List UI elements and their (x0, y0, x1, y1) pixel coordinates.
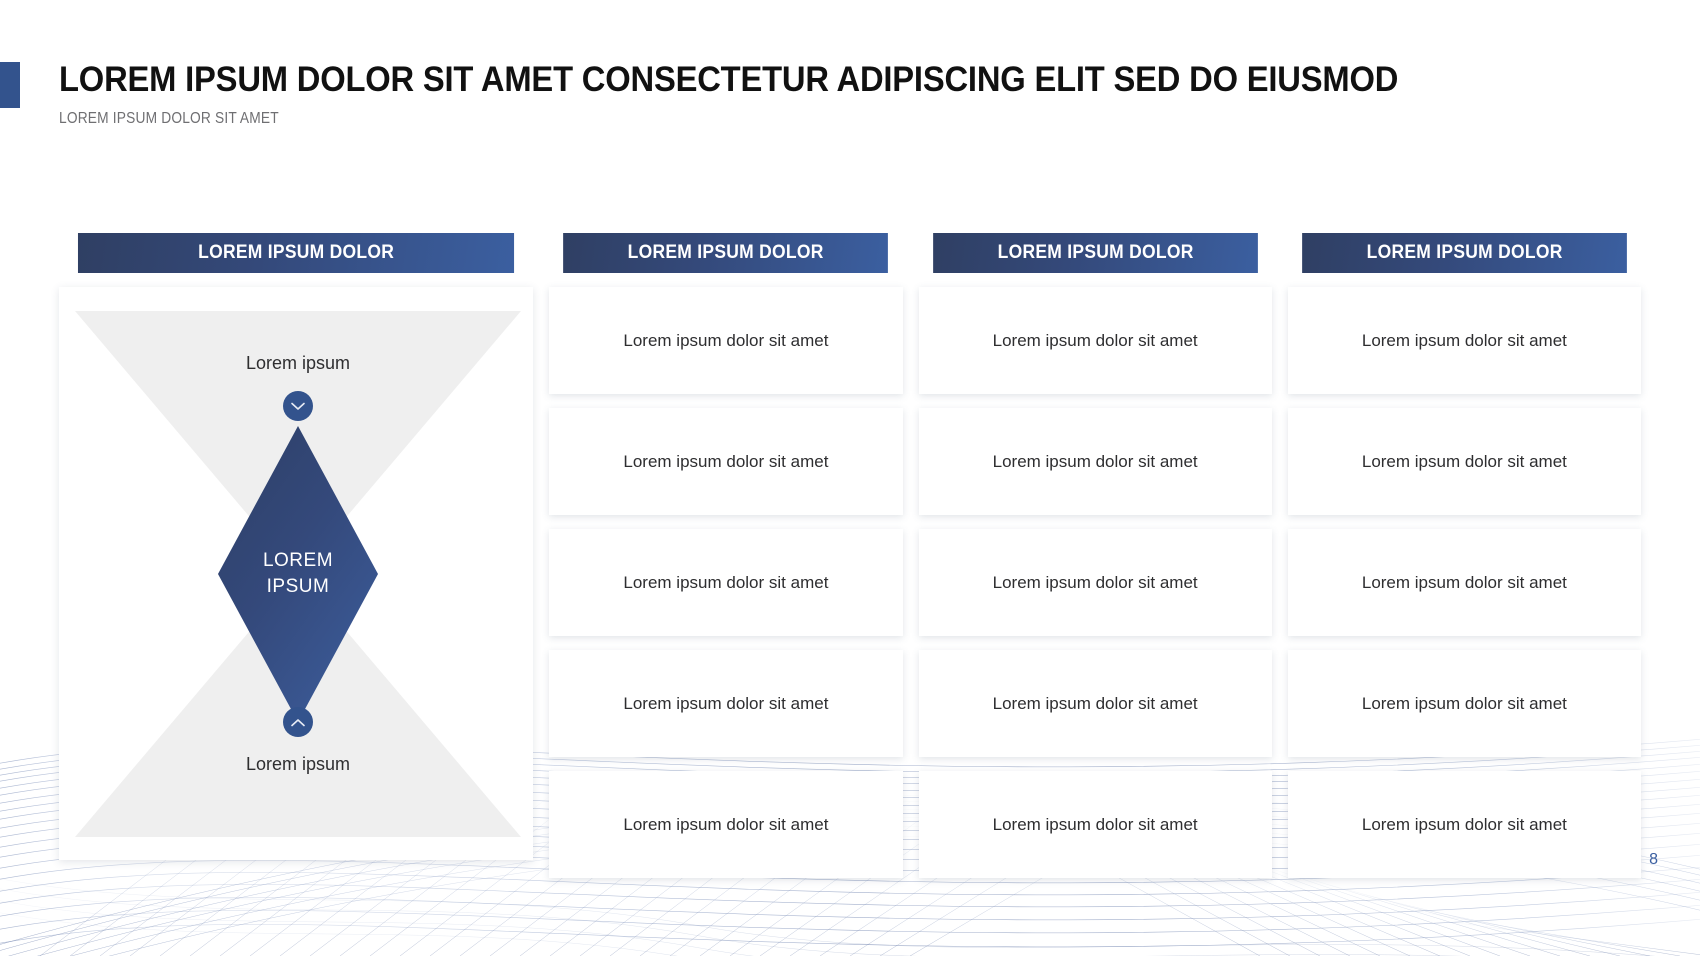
column-cards-2: LOREM IPSUM DOLOR Lorem ipsum dolor sit … (549, 233, 902, 878)
column-funnel: LOREM IPSUM DOLOR LOREM IPSUM Lorem ipsu… (59, 233, 533, 878)
page-number: 8 (1649, 851, 1658, 869)
list-item[interactable]: Lorem ipsum dolor sit amet (549, 771, 902, 878)
page-title: LOREM IPSUM DOLOR SIT AMET CONSECTETUR A… (59, 58, 1398, 102)
list-item[interactable]: Lorem ipsum dolor sit amet (1288, 408, 1641, 515)
card-text: Lorem ipsum dolor sit amet (623, 331, 828, 351)
funnel-bottom-label: Lorem ipsum (75, 754, 521, 775)
list-item[interactable]: Lorem ipsum dolor sit amet (1288, 529, 1641, 636)
column-header-4: LOREM IPSUM DOLOR (1302, 233, 1627, 273)
list-item[interactable]: Lorem ipsum dolor sit amet (1288, 650, 1641, 757)
center-diamond-label: LOREM IPSUM (263, 548, 333, 600)
card-text: Lorem ipsum dolor sit amet (1362, 573, 1567, 593)
list-item[interactable]: Lorem ipsum dolor sit amet (1288, 287, 1641, 394)
content-grid: LOREM IPSUM DOLOR LOREM IPSUM Lorem ipsu… (59, 233, 1641, 878)
list-item[interactable]: Lorem ipsum dolor sit amet (549, 529, 902, 636)
title-accent-bar (0, 62, 20, 108)
column-cards-4: LOREM IPSUM DOLOR Lorem ipsum dolor sit … (1288, 233, 1641, 878)
list-item[interactable]: Lorem ipsum dolor sit amet (919, 650, 1272, 757)
card-text: Lorem ipsum dolor sit amet (1362, 452, 1567, 472)
card-text: Lorem ipsum dolor sit amet (993, 694, 1198, 714)
card-text: Lorem ipsum dolor sit amet (993, 573, 1198, 593)
column-header-2: LOREM IPSUM DOLOR (563, 233, 888, 273)
card-text: Lorem ipsum dolor sit amet (993, 815, 1198, 835)
card-text: Lorem ipsum dolor sit amet (623, 815, 828, 835)
funnel-top-label: Lorem ipsum (75, 353, 521, 374)
slide-canvas: LOREM IPSUM DOLOR SIT AMET CONSECTETUR A… (0, 0, 1700, 956)
list-item[interactable]: Lorem ipsum dolor sit amet (919, 408, 1272, 515)
column-cards-3: LOREM IPSUM DOLOR Lorem ipsum dolor sit … (919, 233, 1272, 878)
card-text: Lorem ipsum dolor sit amet (993, 331, 1198, 351)
funnel-diagram: LOREM IPSUM Lorem ipsum Lorem ipsum (75, 311, 521, 837)
funnel-panel: LOREM IPSUM Lorem ipsum Lorem ipsum (59, 287, 533, 860)
card-text: Lorem ipsum dolor sit amet (993, 452, 1198, 472)
list-item[interactable]: Lorem ipsum dolor sit amet (919, 771, 1272, 878)
list-item[interactable]: Lorem ipsum dolor sit amet (919, 529, 1272, 636)
card-text: Lorem ipsum dolor sit amet (623, 694, 828, 714)
card-text: Lorem ipsum dolor sit amet (1362, 694, 1567, 714)
chevron-down-icon[interactable] (283, 391, 313, 421)
card-text: Lorem ipsum dolor sit amet (623, 573, 828, 593)
slide-header: LOREM IPSUM DOLOR SIT AMET CONSECTETUR A… (59, 58, 1491, 129)
list-item[interactable]: Lorem ipsum dolor sit amet (919, 287, 1272, 394)
column-header-3: LOREM IPSUM DOLOR (933, 233, 1258, 273)
list-item[interactable]: Lorem ipsum dolor sit amet (549, 408, 902, 515)
card-text: Lorem ipsum dolor sit amet (623, 452, 828, 472)
card-text: Lorem ipsum dolor sit amet (1362, 331, 1567, 351)
column-header-1: LOREM IPSUM DOLOR (78, 233, 514, 273)
list-item[interactable]: Lorem ipsum dolor sit amet (549, 650, 902, 757)
list-item[interactable]: Lorem ipsum dolor sit amet (1288, 771, 1641, 878)
chevron-up-glyph (291, 718, 305, 727)
list-item[interactable]: Lorem ipsum dolor sit amet (549, 287, 902, 394)
page-subtitle: LOREM IPSUM DOLOR SIT AMET (59, 109, 1291, 129)
chevron-up-icon[interactable] (283, 707, 313, 737)
chevron-down-glyph (291, 402, 305, 411)
card-text: Lorem ipsum dolor sit amet (1362, 815, 1567, 835)
